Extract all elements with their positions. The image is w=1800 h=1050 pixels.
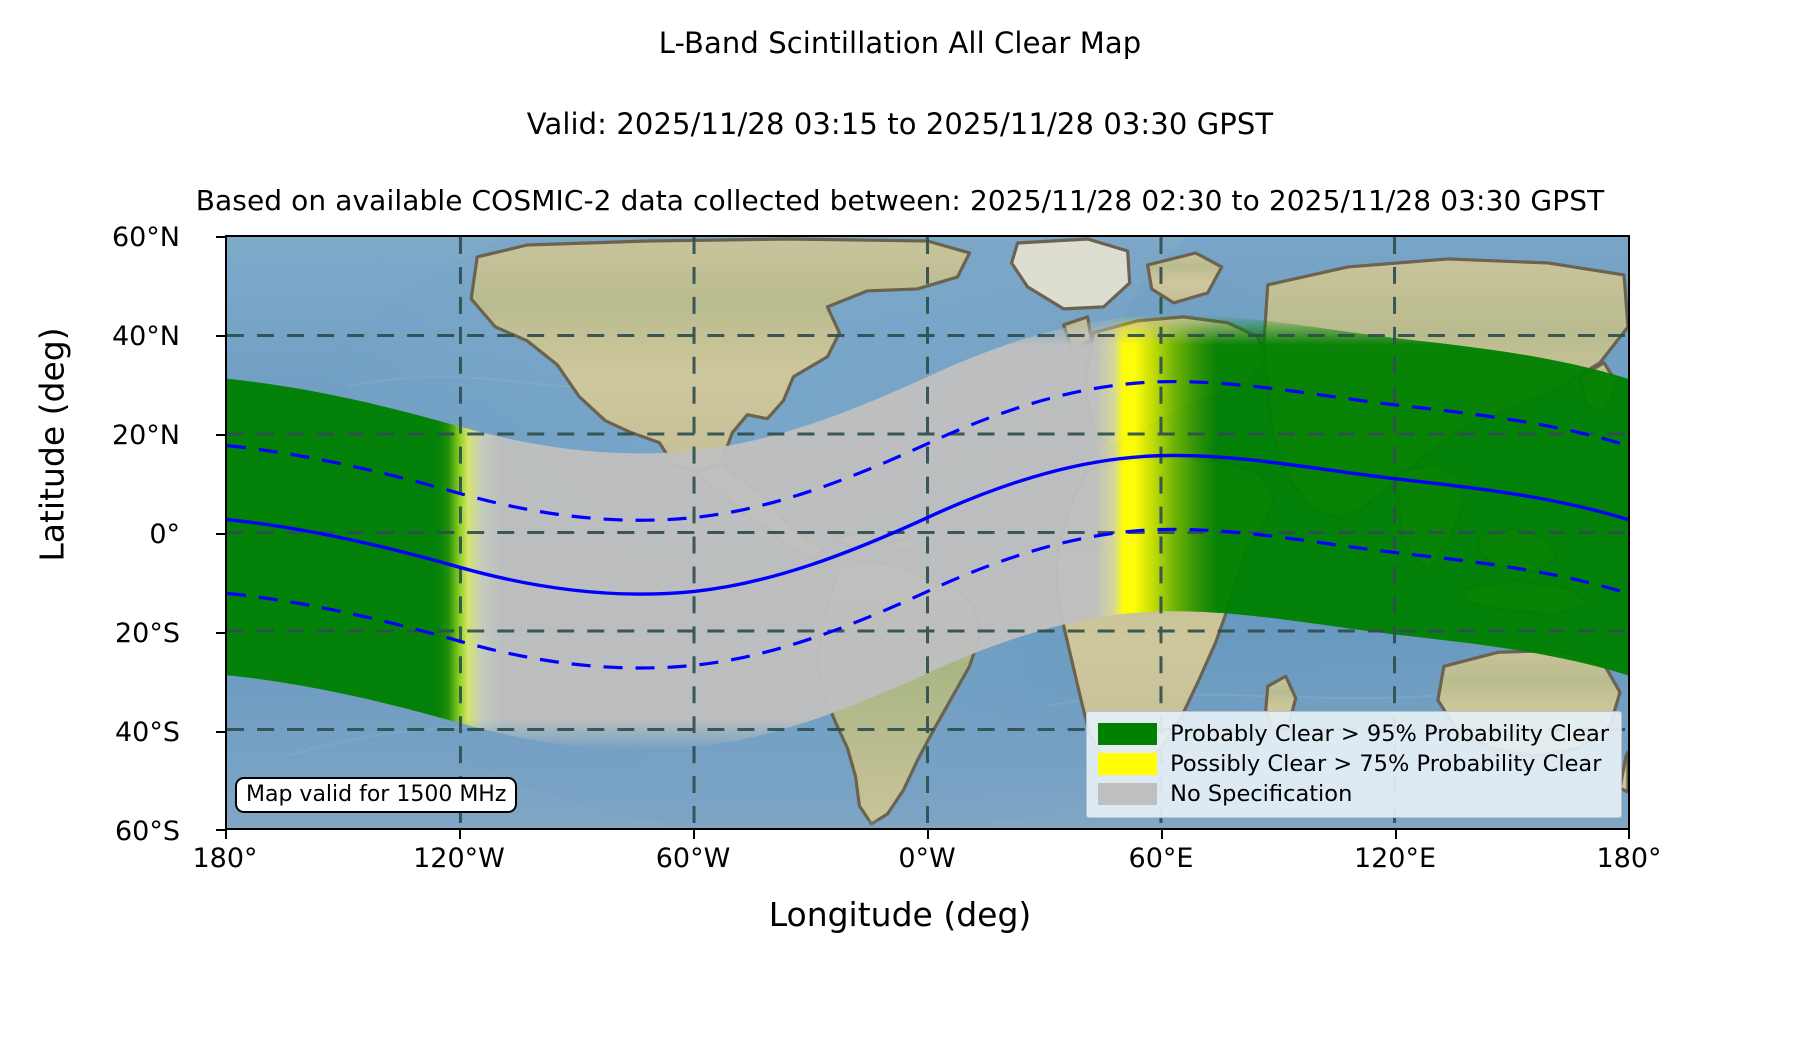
- ytick-mark-60s: [216, 829, 225, 831]
- ytick-label-20s: 20°S: [0, 618, 180, 649]
- ytick-mark-40s: [216, 731, 225, 733]
- ytick-label-40n: 40°N: [0, 321, 180, 352]
- frequency-annotation-label: Map valid for 1500 MHz: [246, 782, 506, 807]
- xtick-mark-120w: [459, 830, 461, 839]
- legend-label-possibly-clear: Possibly Clear > 75% Probability Clear: [1170, 753, 1601, 776]
- legend-item-probably-clear: Probably Clear > 95% Probability Clear: [1098, 719, 1609, 749]
- xtick-label-60w: 60°W: [563, 843, 823, 874]
- map-legend[interactable]: Probably Clear > 95% Probability Clear P…: [1086, 711, 1622, 818]
- legend-swatch-no-specification: [1098, 783, 1157, 805]
- scintillation-map-axes[interactable]: Map valid for 1500 MHz Probably Clear > …: [225, 235, 1630, 830]
- legend-item-possibly-clear: Possibly Clear > 75% Probability Clear: [1098, 749, 1609, 779]
- ytick-mark-0: [216, 533, 225, 535]
- legend-swatch-probably-clear: [1098, 723, 1157, 745]
- xtick-label-120w: 120°W: [329, 843, 589, 874]
- xtick-label-60e: 60°E: [1031, 843, 1291, 874]
- ytick-label-20n: 20°N: [0, 420, 180, 451]
- frequency-annotation: Map valid for 1500 MHz: [235, 777, 517, 813]
- valid-time-subtitle: Valid: 2025/11/28 03:15 to 2025/11/28 03…: [0, 107, 1800, 141]
- xtick-mark-180e: [1628, 830, 1630, 839]
- y-axis-label: Latitude (deg): [33, 165, 72, 725]
- data-source-subtitle: Based on available COSMIC-2 data collect…: [0, 184, 1800, 217]
- ytick-mark-60n: [216, 236, 225, 238]
- ytick-label-40s: 40°S: [0, 717, 180, 748]
- legend-item-no-specification: No Specification: [1098, 779, 1609, 809]
- xtick-mark-60e: [1161, 830, 1163, 839]
- legend-swatch-possibly-clear: [1098, 753, 1157, 775]
- xtick-label-0: 0°W: [797, 843, 1057, 874]
- ytick-mark-20s: [216, 632, 225, 634]
- xtick-mark-0: [927, 830, 929, 839]
- ytick-label-60n: 60°N: [0, 222, 180, 253]
- x-axis-label: Longitude (deg): [0, 895, 1800, 934]
- legend-label-no-specification: No Specification: [1170, 783, 1352, 806]
- ytick-label-0: 0°: [0, 519, 180, 550]
- xtick-label-120e: 120°E: [1265, 843, 1525, 874]
- page-title: L-Band Scintillation All Clear Map: [0, 26, 1800, 60]
- xtick-mark-60w: [693, 830, 695, 839]
- figure-canvas: L-Band Scintillation All Clear Map Valid…: [0, 0, 1800, 1050]
- xtick-label-180w: 180°: [95, 843, 355, 874]
- legend-label-probably-clear: Probably Clear > 95% Probability Clear: [1170, 723, 1609, 746]
- xtick-mark-180w: [225, 830, 227, 839]
- xtick-label-180e: 180°: [1499, 843, 1759, 874]
- ytick-mark-20n: [216, 434, 225, 436]
- xtick-mark-120e: [1395, 830, 1397, 839]
- ytick-mark-40n: [216, 335, 225, 337]
